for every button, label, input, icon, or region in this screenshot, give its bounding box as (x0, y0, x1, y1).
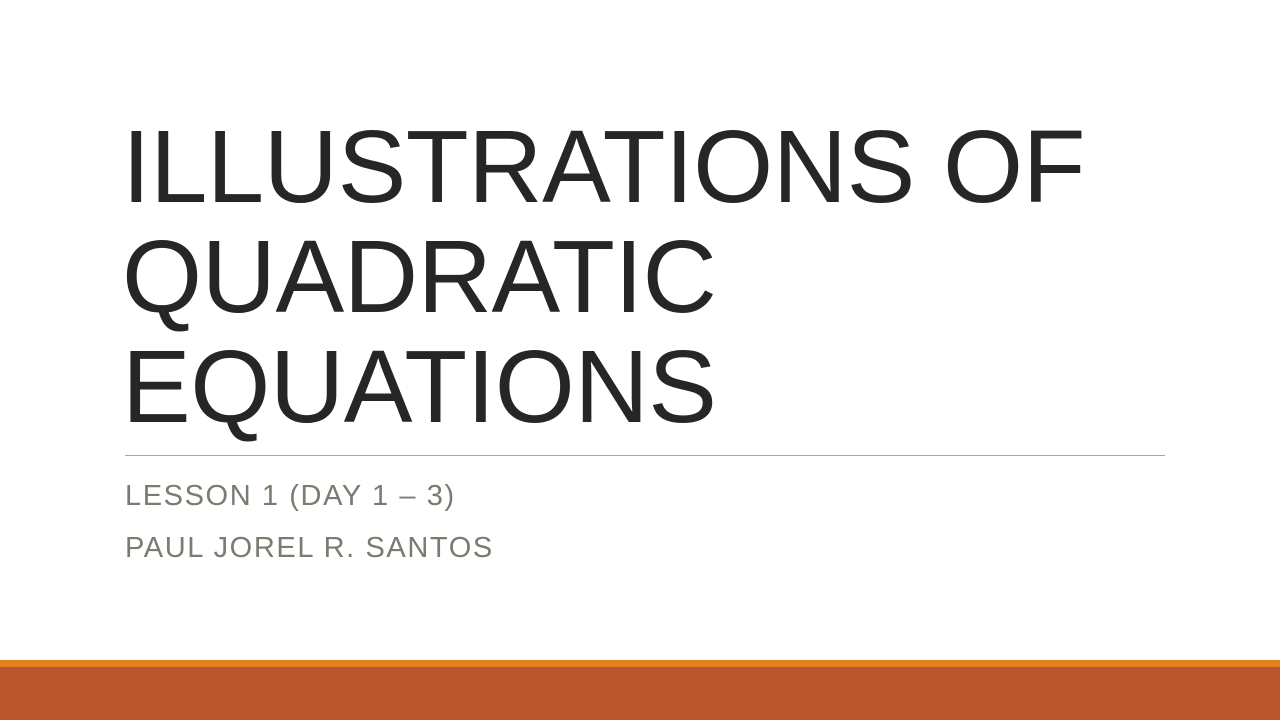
subtitle-placeholder[interactable]: LESSON 1 (DAY 1 – 3) PAUL JOREL R. SANTO… (125, 470, 1165, 574)
title-placeholder[interactable]: ILLUSTRATIONS OF QUADRATIC EQUATIONS (122, 112, 1172, 442)
accent-bar-terracotta (0, 667, 1280, 720)
subtitle-line-author: PAUL JOREL R. SANTOS (125, 522, 1165, 574)
subtitle-line-lesson: LESSON 1 (DAY 1 – 3) (125, 470, 1165, 522)
title-divider-rule (125, 455, 1165, 456)
page-title: ILLUSTRATIONS OF QUADRATIC EQUATIONS (122, 112, 1172, 442)
accent-bar-amber (0, 660, 1280, 667)
title-slide: ILLUSTRATIONS OF QUADRATIC EQUATIONS LES… (0, 0, 1280, 720)
